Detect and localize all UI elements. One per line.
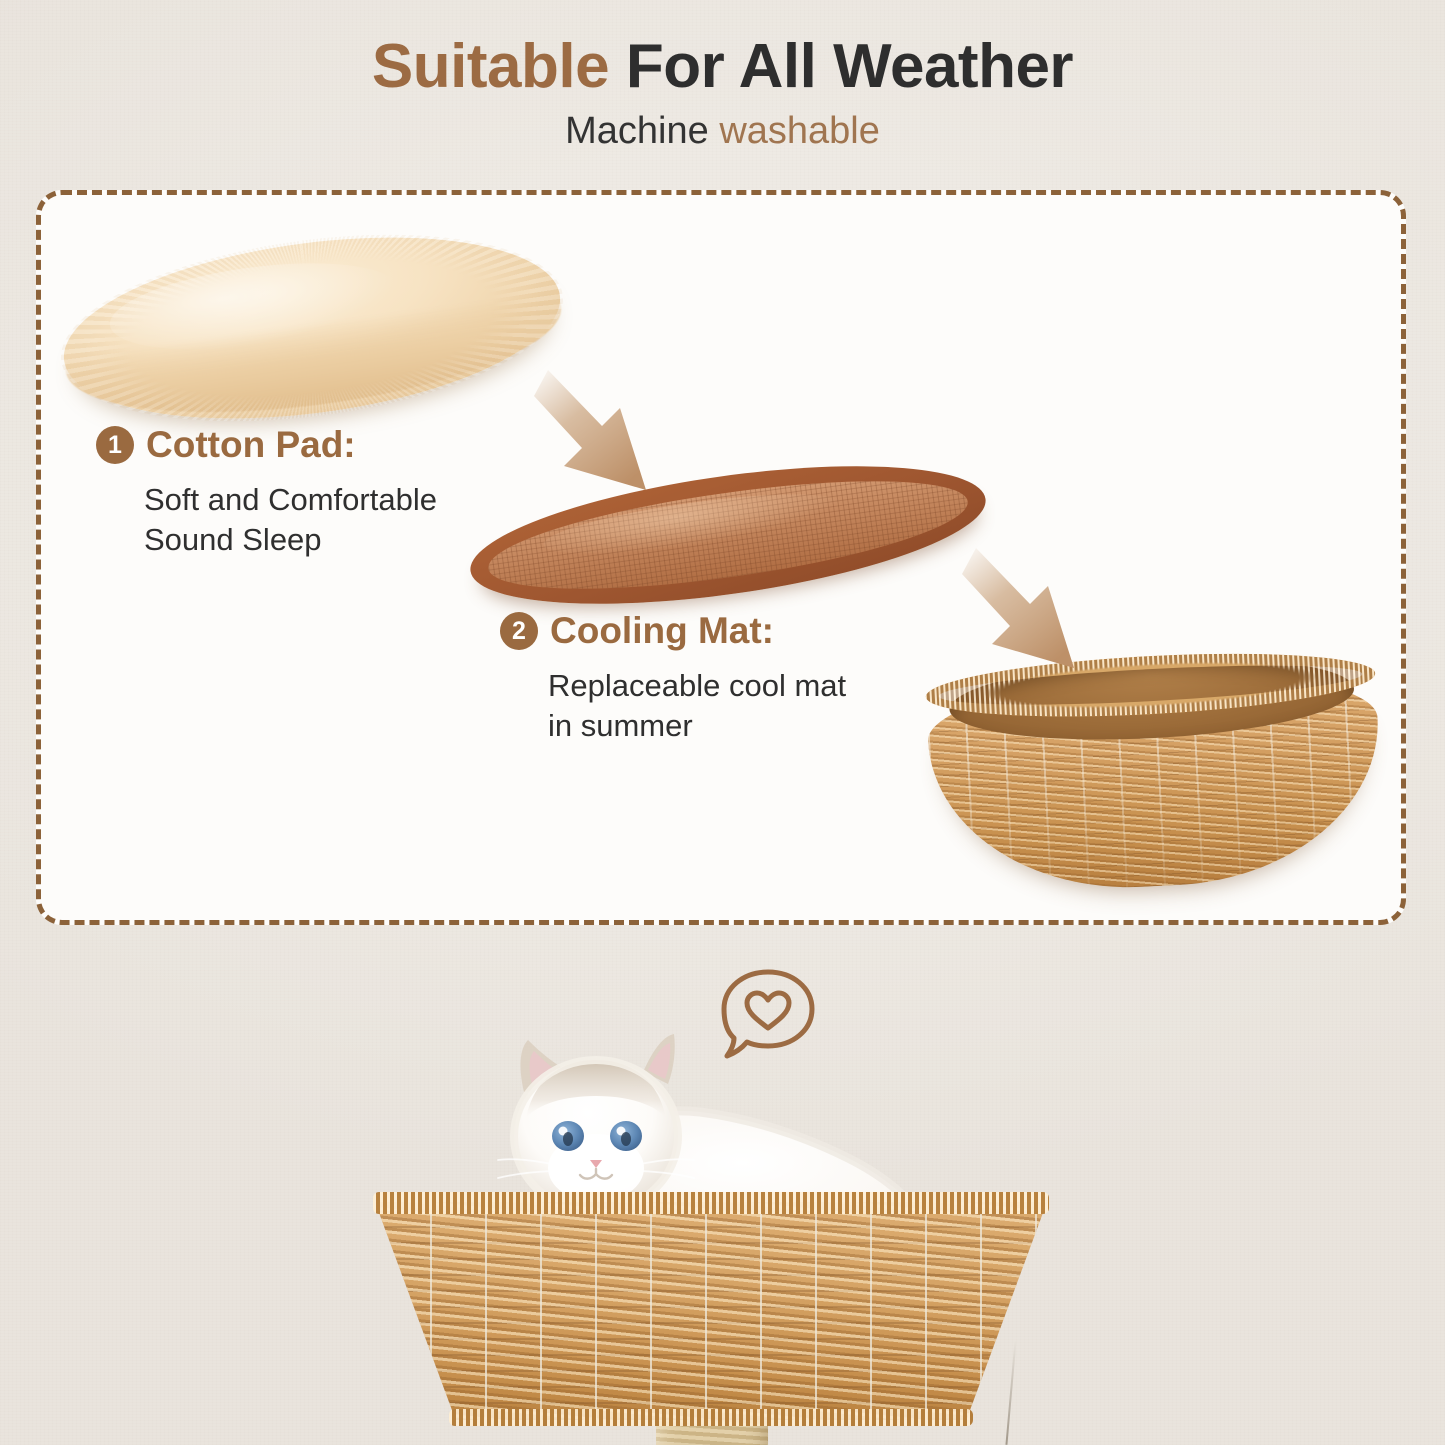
- arrow-down-icon-1: [520, 360, 690, 505]
- feature-2-number-badge: 2: [500, 612, 538, 650]
- feature-1-heading: 1 Cotton Pad:: [96, 424, 516, 466]
- feature-2-title: Cooling Mat:: [550, 610, 774, 652]
- title-rest: For All Weather: [609, 32, 1073, 101]
- infographic-page: Suitable For All Weather Machine washabl…: [0, 0, 1445, 1445]
- large-basket-spokes: [375, 1202, 1047, 1420]
- feature-2-heading: 2 Cooling Mat:: [500, 610, 930, 652]
- page-title: Suitable For All Weather: [0, 34, 1445, 99]
- page-subtitle: Machine washable: [0, 111, 1445, 153]
- arrow-down-icon-2: [948, 536, 1118, 686]
- large-basket-base-trim: [449, 1409, 973, 1426]
- subtitle-plain: Machine: [565, 110, 719, 152]
- subtitle-highlight: washable: [719, 110, 880, 152]
- feature-1-number-badge: 1: [96, 426, 134, 464]
- header: Suitable For All Weather Machine washabl…: [0, 34, 1445, 153]
- large-basket-body: [375, 1202, 1047, 1420]
- feature-callout-cooling-mat: 2 Cooling Mat: Replaceable cool mat in s…: [500, 610, 930, 747]
- title-highlight: Suitable: [372, 32, 609, 101]
- large-woven-basket: [375, 1192, 1047, 1432]
- feature-1-description: Soft and Comfortable Sound Sleep: [144, 480, 516, 561]
- feature-2-description: Replaceable cool mat in summer: [548, 666, 930, 747]
- speech-bubble-heart-icon: [716, 966, 820, 1064]
- feature-callout-cotton-pad: 1 Cotton Pad: Soft and Comfortable Sound…: [96, 424, 516, 561]
- feature-1-title: Cotton Pad:: [146, 424, 356, 466]
- large-basket-rim: [373, 1192, 1049, 1214]
